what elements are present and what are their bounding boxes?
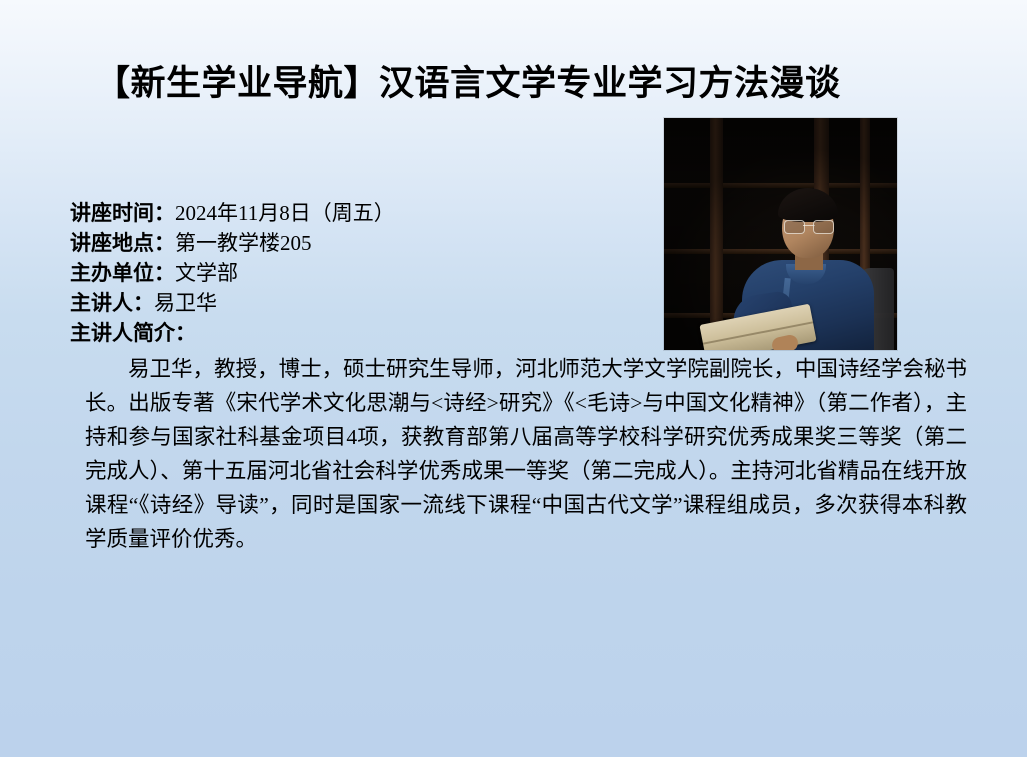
detail-label: 主办单位：: [70, 261, 175, 285]
detail-row-location: 讲座地点：第一教学楼205: [70, 228, 650, 258]
detail-label: 主讲人：: [70, 291, 154, 315]
glasses-bridge: [803, 225, 815, 226]
detail-row-organizer: 主办单位：文学部: [70, 258, 650, 288]
page-title: 【新生学业导航】汉语言文学专业学习方法漫谈: [95, 62, 955, 106]
speaker-bio-text: 易卫华，教授，博士，硕士研究生导师，河北师范大学文学院副院长，中国诗经学会秘书长…: [85, 352, 967, 556]
detail-row-speaker: 主讲人：易卫华: [70, 288, 650, 318]
slide-canvas: 【新生学业导航】汉语言文学专业学习方法漫谈: [0, 0, 1027, 757]
detail-row-time: 讲座时间：2024年11月8日（周五）: [70, 198, 650, 228]
detail-value: 2024年11月8日（周五）: [175, 201, 395, 225]
lecture-details: 讲座时间：2024年11月8日（周五） 讲座地点：第一教学楼205 主办单位：文…: [70, 198, 650, 318]
detail-label: 讲座时间：: [70, 201, 175, 225]
detail-label: 讲座地点：: [70, 231, 175, 255]
speaker-bio-heading: 主讲人简介：: [70, 318, 196, 348]
detail-value: 第一教学楼205: [175, 231, 312, 255]
glasses-icon: [784, 220, 834, 232]
speaker-photo: [664, 118, 897, 350]
detail-value: 易卫华: [154, 291, 217, 315]
detail-value: 文学部: [175, 261, 238, 285]
photo-background: [664, 118, 897, 350]
